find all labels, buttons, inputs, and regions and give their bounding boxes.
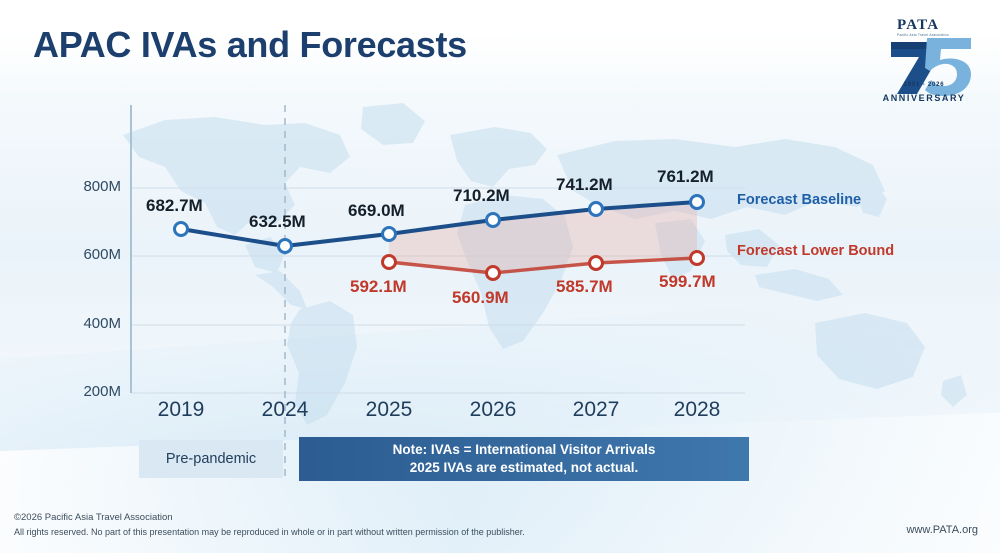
data-label-baseline-2026: 710.2M xyxy=(453,186,510,206)
svg-text:Pacific Asia Travel Associatio: Pacific Asia Travel Association xyxy=(897,33,949,37)
world-map-watermark xyxy=(95,95,1000,440)
y-tick-400: 400M xyxy=(55,315,121,332)
data-label-baseline-2024: 632.5M xyxy=(249,212,306,232)
data-label-baseline-2028: 761.2M xyxy=(657,167,714,187)
legend-forecast-lower-bound: Forecast Lower Bound xyxy=(737,243,894,259)
x-tick-2026: 2026 xyxy=(448,398,538,422)
series-line-lower-bound xyxy=(389,258,697,273)
y-tick-800: 800M xyxy=(55,178,121,195)
data-label-lower-2025: 592.1M xyxy=(350,277,407,297)
svg-text:PATA: PATA xyxy=(897,17,939,33)
data-label-lower-2026: 560.9M xyxy=(452,288,509,308)
series-markers-lower-bound xyxy=(383,252,704,280)
svg-text:1951 - 2026: 1951 - 2026 xyxy=(904,82,945,88)
x-tick-2028: 2028 xyxy=(652,398,742,422)
footer-rights: All rights reserved. No part of this pre… xyxy=(14,526,525,540)
forecast-band xyxy=(389,202,697,272)
x-tick-2025: 2025 xyxy=(344,398,434,422)
y-tick-200: 200M xyxy=(55,383,121,400)
data-label-lower-2027: 585.7M xyxy=(556,277,613,297)
footer-website: www.PATA.org xyxy=(906,524,978,536)
x-tick-2024: 2024 xyxy=(240,398,330,422)
pre-pandemic-badge: Pre-pandemic xyxy=(139,440,283,478)
legend-forecast-baseline: Forecast Baseline xyxy=(737,192,861,208)
note-box: Note: IVAs = International Visitor Arriv… xyxy=(299,437,749,481)
footer-copyright: ©2026 Pacific Asia Travel Association xyxy=(14,511,525,525)
svg-text:ANNIVERSARY: ANNIVERSARY xyxy=(883,93,966,103)
footer: ©2026 Pacific Asia Travel Association Al… xyxy=(14,511,525,539)
data-label-lower-2028: 599.7M xyxy=(659,272,716,292)
y-tick-600: 600M xyxy=(55,246,121,263)
note-line-1: Note: IVAs = International Visitor Arriv… xyxy=(393,441,656,459)
x-tick-2019: 2019 xyxy=(136,398,226,422)
data-label-baseline-2025: 669.0M xyxy=(348,201,405,221)
slide-canvas: APAC IVAs and Forecasts PATA Pacific Asi… xyxy=(0,0,1000,553)
pata-anniversary-logo: PATA Pacific Asia Travel Association 195… xyxy=(867,8,982,106)
data-label-baseline-2019: 682.7M xyxy=(146,196,203,216)
pre-pandemic-label: Pre-pandemic xyxy=(166,451,256,467)
data-label-baseline-2027: 741.2M xyxy=(556,175,613,195)
x-tick-2027: 2027 xyxy=(551,398,641,422)
note-line-2: 2025 IVAs are estimated, not actual. xyxy=(410,459,639,477)
page-title: APAC IVAs and Forecasts xyxy=(33,24,467,66)
